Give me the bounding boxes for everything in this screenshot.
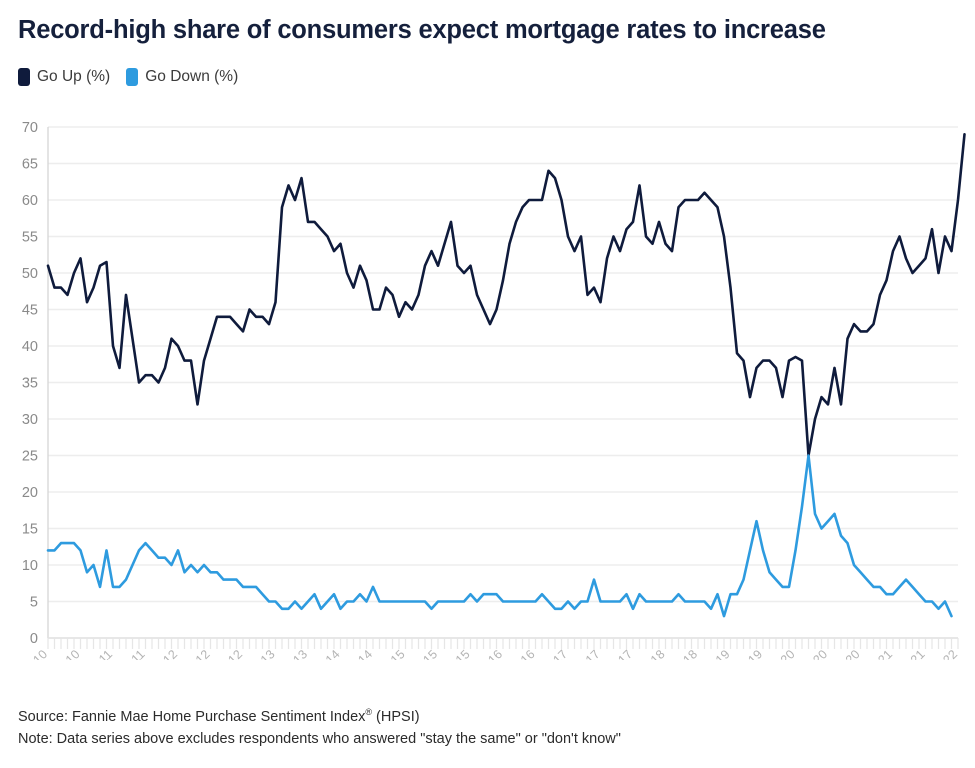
x-axis-tick-label: Apr-11 bbox=[79, 647, 115, 660]
x-axis-tick-label: Nov-10 bbox=[44, 647, 82, 660]
legend-item-go-up[interactable]: Go Up (%) bbox=[18, 68, 110, 86]
page-title: Record-high share of consumers expect mo… bbox=[18, 16, 826, 45]
source-text: Source: Fannie Mae Home Purchase Sentime… bbox=[18, 709, 365, 725]
chart-legend: Go Up (%) Go Down (%) bbox=[18, 68, 238, 86]
x-axis-tick-label: Sep-21 bbox=[889, 647, 927, 660]
legend-label-go-down: Go Down (%) bbox=[145, 68, 238, 86]
x-axis-tick-label: Jun-10 bbox=[13, 647, 50, 660]
x-axis-tick-label: Oct-13 bbox=[274, 647, 310, 660]
y-axis-tick-label: 30 bbox=[22, 412, 38, 428]
x-axis-tick-label: Mar-19 bbox=[695, 647, 733, 660]
y-axis-tick-label: 45 bbox=[22, 303, 38, 319]
x-axis-tick-label: Dec-12 bbox=[207, 647, 245, 660]
legend-item-go-down[interactable]: Go Down (%) bbox=[126, 68, 238, 86]
x-axis-tick-label: Feb-22 bbox=[922, 647, 960, 660]
x-axis-tick-label: Feb-17 bbox=[532, 647, 570, 660]
data-note: Note: Data series above excludes respond… bbox=[18, 728, 621, 750]
chart-container: Record-high share of consumers expect mo… bbox=[0, 0, 975, 768]
x-axis-tick-label: Sep-16 bbox=[499, 647, 537, 660]
y-axis-tick-label: 5 bbox=[30, 595, 38, 611]
y-axis-tick-label: 20 bbox=[22, 485, 38, 501]
y-axis-tick-label: 70 bbox=[22, 120, 38, 136]
x-axis-tick-labels: Jun-10Nov-10Apr-11Sep-11Feb-12Jul-12Dec-… bbox=[13, 647, 960, 660]
gridlines bbox=[48, 127, 958, 638]
x-axis-tick-label: Jun-20 bbox=[793, 647, 830, 660]
y-axis-tick-label: 55 bbox=[22, 230, 38, 246]
source-suffix: (HPSI) bbox=[372, 709, 420, 725]
x-axis-tick-label: Jan-15 bbox=[371, 647, 408, 660]
x-axis-tick-label: Mar-14 bbox=[305, 647, 343, 660]
y-axis-tick-label: 65 bbox=[22, 157, 38, 173]
y-axis-tick-label: 35 bbox=[22, 376, 38, 392]
x-axis-tick-label: Sep-11 bbox=[110, 647, 148, 660]
x-axis-ticks bbox=[48, 638, 958, 649]
chart-footnotes: Source: Fannie Mae Home Purchase Sentime… bbox=[18, 706, 621, 751]
y-axis-tick-labels: 0510152025303540455055606570 bbox=[22, 120, 38, 647]
y-axis-tick-label: 10 bbox=[22, 558, 38, 574]
x-axis-tick-label: Apr-16 bbox=[469, 647, 505, 660]
plot-area: 0510152025303540455055606570 Jun-10Nov-1… bbox=[0, 100, 975, 660]
x-axis-tick-label: Dec-17 bbox=[597, 647, 635, 660]
x-axis-tick-label: Nov-15 bbox=[434, 647, 472, 660]
series-line bbox=[48, 456, 952, 617]
y-axis-tick-label: 25 bbox=[22, 449, 38, 465]
x-axis-tick-label: Nov-20 bbox=[824, 647, 862, 660]
data-series bbox=[48, 134, 965, 616]
x-axis-tick-label: Aug-14 bbox=[337, 647, 375, 660]
x-axis-tick-label: Aug-19 bbox=[727, 647, 765, 660]
x-axis-tick-label: Oct-18 bbox=[664, 647, 700, 660]
y-axis-tick-label: 60 bbox=[22, 193, 38, 209]
x-axis-tick-label: Apr-21 bbox=[859, 647, 895, 660]
x-axis-tick-label: Jul-17 bbox=[569, 647, 603, 660]
x-axis-tick-label: Jul-12 bbox=[179, 647, 213, 660]
source-note: Source: Fannie Mae Home Purchase Sentime… bbox=[18, 706, 621, 728]
legend-label-go-up: Go Up (%) bbox=[37, 68, 110, 86]
legend-swatch-go-down bbox=[126, 68, 138, 86]
series-line bbox=[48, 134, 965, 455]
x-axis-tick-label: Jan-20 bbox=[761, 647, 798, 660]
y-axis-tick-label: 50 bbox=[22, 266, 38, 282]
x-axis-tick-label: Jun-15 bbox=[403, 647, 440, 660]
line-chart-svg: 0510152025303540455055606570 Jun-10Nov-1… bbox=[0, 100, 975, 660]
y-axis-tick-label: 40 bbox=[22, 339, 38, 355]
y-axis-tick-label: 15 bbox=[22, 522, 38, 538]
y-axis-tick-label: 0 bbox=[30, 631, 38, 647]
legend-swatch-go-up bbox=[18, 68, 30, 86]
x-axis-tick-label: Feb-12 bbox=[142, 647, 180, 660]
